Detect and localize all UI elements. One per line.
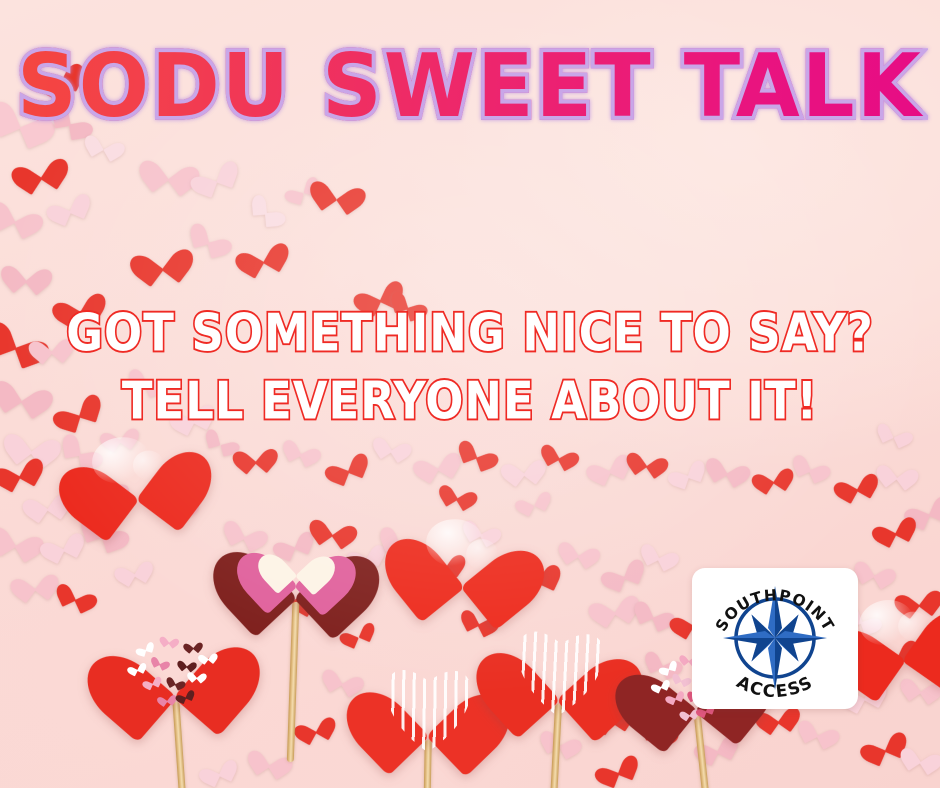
subtitle-line-2-text: TELL EVERYONE ABOUT IT! <box>122 371 818 431</box>
candy-sprinkle-heart <box>162 633 177 647</box>
confetti-heart <box>317 169 359 209</box>
confetti-heart <box>9 255 46 289</box>
candy-sprinkle-heart <box>190 669 204 682</box>
striped-heart-candle-r <box>494 615 619 788</box>
candy-heart-shape <box>76 418 192 524</box>
confetti-heart <box>417 443 455 479</box>
candy-heart-shape <box>407 503 524 610</box>
confetti-heart <box>443 477 474 506</box>
candy-stripes <box>501 615 618 721</box>
layered-heart-candle <box>234 514 355 768</box>
candy-stick <box>286 602 299 762</box>
confetti-heart <box>138 235 185 279</box>
confetti-heart <box>882 456 913 485</box>
confetti-heart <box>756 459 789 490</box>
subtitle-line-1: GOT SOMETHING NICE TO SAY? <box>0 308 940 360</box>
candy-sprinkle-heart <box>681 705 696 719</box>
candy-sprinkle-heart <box>666 688 683 704</box>
candy-inner-layer <box>270 537 323 585</box>
candy-sprinkle-heart <box>159 691 174 705</box>
subtitle-line-1-text: GOT SOMETHING NICE TO SAY? <box>66 303 874 363</box>
valentines-promo-poster: SODU SWEET TALK SODU SWEET TALK GOT SOME… <box>0 0 940 788</box>
confetti-heart <box>239 439 271 469</box>
subtitle-line-2: TELL EVERYONE ABOUT IT! <box>0 376 940 428</box>
candy-sprinkle-heart <box>176 687 193 703</box>
page-title-text-overlay: SODU SWEET TALK <box>0 43 940 130</box>
candy-sprinkle-heart <box>200 649 214 662</box>
sprinkle-heart-candle <box>111 608 244 788</box>
confetti-heart <box>506 450 540 482</box>
confetti-heart <box>17 146 61 188</box>
confetti-heart <box>564 533 597 564</box>
confetti-heart <box>632 444 664 474</box>
candy-sprinkle-heart <box>675 670 691 685</box>
logo-graphic: SOUTHPOINT ACCESS <box>692 568 858 709</box>
confetti-heart <box>859 553 892 585</box>
page-title: SODU SWEET TALK SODU SWEET TALK <box>0 43 940 130</box>
confetti-heart <box>16 564 52 598</box>
confetti-heart <box>378 430 408 459</box>
candy-stripes <box>372 655 484 755</box>
striped-heart-candle-l <box>370 655 484 788</box>
confetti-heart <box>593 585 633 623</box>
confetti-heart <box>711 449 747 483</box>
confetti-heart <box>148 147 193 189</box>
candy-sprinkle-heart <box>186 639 200 652</box>
southpoint-access-logo[interactable]: SOUTHPOINT ACCESS <box>692 568 858 709</box>
